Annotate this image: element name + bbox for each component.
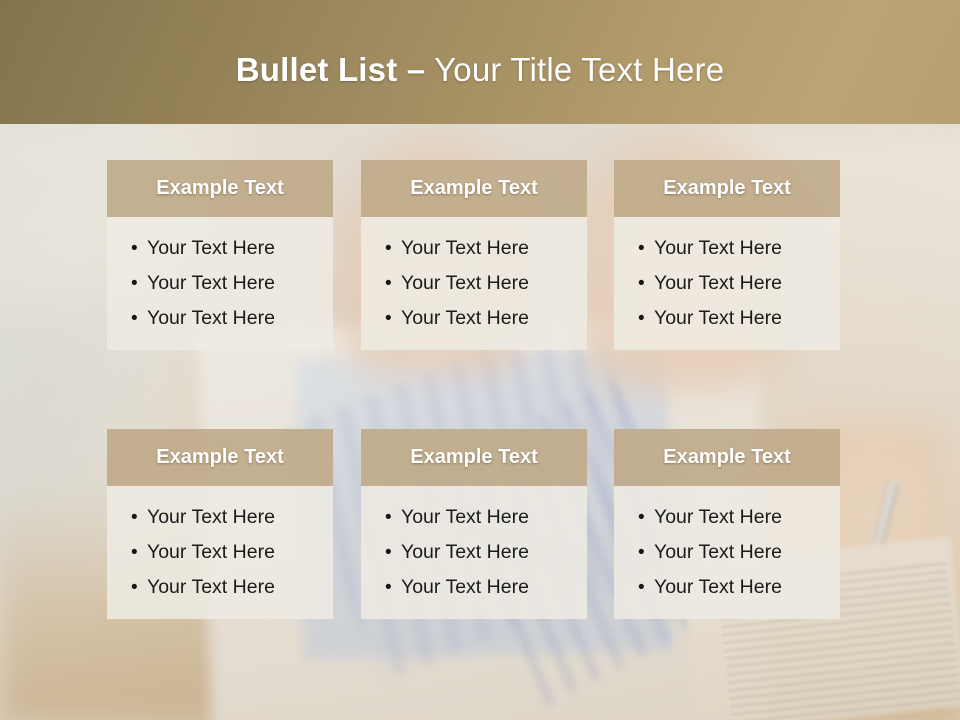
bullet-list-6: •Your Text Here •Your Text Here •Your Te…: [614, 500, 840, 605]
bullet-label: Your Text Here: [147, 535, 275, 569]
bullet-list-1: •Your Text Here •Your Text Here •Your Te…: [107, 231, 333, 336]
bullet-dot-icon: •: [385, 501, 401, 535]
bullet-card-2[interactable]: Example Text •Your Text Here •Your Text …: [361, 160, 587, 350]
bullet-label: Your Text Here: [401, 266, 529, 300]
bullet-list-2: •Your Text Here •Your Text Here •Your Te…: [361, 231, 587, 336]
bullet-dot-icon: •: [131, 267, 147, 301]
bullet-label: Your Text Here: [147, 301, 275, 335]
bullet-label: Your Text Here: [654, 231, 782, 265]
card-header-1: Example Text: [107, 160, 333, 217]
bullet-list-4: •Your Text Here •Your Text Here •Your Te…: [107, 500, 333, 605]
list-item[interactable]: •Your Text Here: [107, 500, 333, 535]
bullet-label: Your Text Here: [401, 231, 529, 265]
page-title-rest: Your Title Text Here: [425, 51, 724, 88]
bullet-label: Your Text Here: [147, 231, 275, 265]
card-header-2: Example Text: [361, 160, 587, 217]
list-item[interactable]: •Your Text Here: [107, 535, 333, 570]
bullet-dot-icon: •: [638, 302, 654, 336]
bullet-label: Your Text Here: [654, 535, 782, 569]
page-title-strong: Bullet List –: [236, 51, 426, 88]
bullet-label: Your Text Here: [654, 500, 782, 534]
bullet-label: Your Text Here: [147, 500, 275, 534]
title-band: Bullet List – Your Title Text Here: [0, 0, 960, 124]
bullet-dot-icon: •: [131, 536, 147, 570]
bullet-dot-icon: •: [638, 267, 654, 301]
list-item[interactable]: •Your Text Here: [361, 266, 587, 301]
card-body-5: •Your Text Here •Your Text Here •Your Te…: [361, 486, 587, 619]
card-header-label: Example Text: [156, 446, 283, 469]
card-header-label: Example Text: [663, 446, 790, 469]
bullet-card-4[interactable]: Example Text •Your Text Here •Your Text …: [107, 429, 333, 619]
list-item[interactable]: •Your Text Here: [107, 570, 333, 605]
card-header-label: Example Text: [410, 177, 537, 200]
list-item[interactable]: •Your Text Here: [614, 535, 840, 570]
list-item[interactable]: •Your Text Here: [614, 301, 840, 336]
list-item[interactable]: •Your Text Here: [361, 535, 587, 570]
bullet-card-1[interactable]: Example Text •Your Text Here •Your Text …: [107, 160, 333, 350]
card-header-label: Example Text: [663, 177, 790, 200]
list-item[interactable]: •Your Text Here: [614, 231, 840, 266]
bullet-dot-icon: •: [131, 302, 147, 336]
bullet-card-6[interactable]: Example Text •Your Text Here •Your Text …: [614, 429, 840, 619]
bullet-label: Your Text Here: [401, 535, 529, 569]
list-item[interactable]: •Your Text Here: [107, 301, 333, 336]
bullet-label: Your Text Here: [401, 301, 529, 335]
list-item[interactable]: •Your Text Here: [107, 266, 333, 301]
bullet-dot-icon: •: [131, 501, 147, 535]
bullet-dot-icon: •: [638, 536, 654, 570]
card-header-label: Example Text: [410, 446, 537, 469]
bullet-list-5: •Your Text Here •Your Text Here •Your Te…: [361, 500, 587, 605]
card-header-6: Example Text: [614, 429, 840, 486]
slide-canvas: Bullet List – Your Title Text Here Examp…: [0, 0, 960, 720]
bullet-label: Your Text Here: [654, 266, 782, 300]
card-header-label: Example Text: [156, 177, 283, 200]
list-item[interactable]: •Your Text Here: [614, 570, 840, 605]
bullet-label: Your Text Here: [147, 266, 275, 300]
list-item[interactable]: •Your Text Here: [614, 266, 840, 301]
bullet-list-3: •Your Text Here •Your Text Here •Your Te…: [614, 231, 840, 336]
bullet-label: Your Text Here: [147, 570, 275, 604]
list-item[interactable]: •Your Text Here: [614, 500, 840, 535]
bullet-label: Your Text Here: [654, 301, 782, 335]
card-body-6: •Your Text Here •Your Text Here •Your Te…: [614, 486, 840, 619]
page-title: Bullet List – Your Title Text Here: [236, 51, 725, 89]
bullet-dot-icon: •: [638, 501, 654, 535]
list-item[interactable]: •Your Text Here: [361, 570, 587, 605]
card-header-5: Example Text: [361, 429, 587, 486]
bullet-dot-icon: •: [385, 536, 401, 570]
bullet-dot-icon: •: [131, 571, 147, 605]
bullet-card-3[interactable]: Example Text •Your Text Here •Your Text …: [614, 160, 840, 350]
bullet-dot-icon: •: [385, 302, 401, 336]
bullet-label: Your Text Here: [401, 500, 529, 534]
bullet-dot-icon: •: [385, 232, 401, 266]
bullet-card-5[interactable]: Example Text •Your Text Here •Your Text …: [361, 429, 587, 619]
bullet-dot-icon: •: [385, 571, 401, 605]
card-body-2: •Your Text Here •Your Text Here •Your Te…: [361, 217, 587, 350]
bullet-dot-icon: •: [638, 571, 654, 605]
bullet-dot-icon: •: [385, 267, 401, 301]
card-header-4: Example Text: [107, 429, 333, 486]
card-body-4: •Your Text Here •Your Text Here •Your Te…: [107, 486, 333, 619]
card-body-3: •Your Text Here •Your Text Here •Your Te…: [614, 217, 840, 350]
list-item[interactable]: •Your Text Here: [361, 301, 587, 336]
bullet-dot-icon: •: [638, 232, 654, 266]
bullet-label: Your Text Here: [654, 570, 782, 604]
list-item[interactable]: •Your Text Here: [361, 500, 587, 535]
list-item[interactable]: •Your Text Here: [107, 231, 333, 266]
list-item[interactable]: •Your Text Here: [361, 231, 587, 266]
card-body-1: •Your Text Here •Your Text Here •Your Te…: [107, 217, 333, 350]
bullet-label: Your Text Here: [401, 570, 529, 604]
card-header-3: Example Text: [614, 160, 840, 217]
bullet-dot-icon: •: [131, 232, 147, 266]
